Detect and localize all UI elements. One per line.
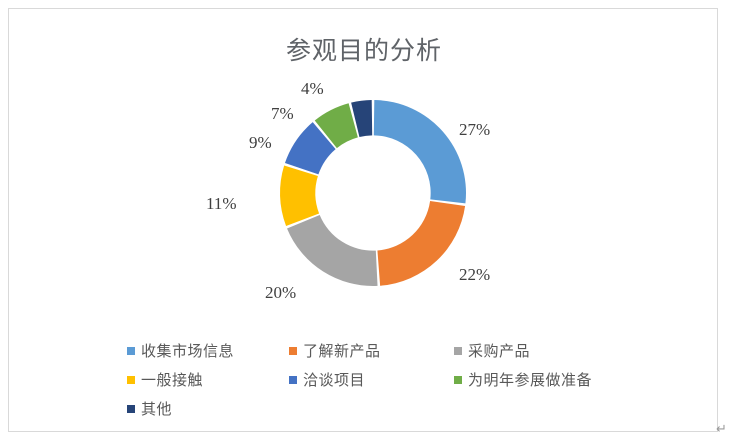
data-label-slice-6: 7%	[271, 104, 294, 124]
legend-row: 其他	[127, 394, 707, 423]
data-label-slice-2: 22%	[459, 265, 490, 285]
legend-item-caigouchanpin[interactable]: 采购产品	[454, 340, 530, 361]
legend-item-label: 洽谈项目	[303, 369, 365, 390]
legend-item-label: 一般接触	[141, 369, 203, 390]
data-label-slice-5: 9%	[249, 133, 272, 153]
legend-row: 收集市场信息 了解新产品 采购产品	[127, 336, 707, 365]
legend-item-label: 为明年参展做准备	[468, 369, 592, 390]
data-label-slice-1: 27%	[459, 120, 490, 140]
doughnut-slice[interactable]	[377, 201, 465, 286]
doughnut-slice[interactable]	[374, 100, 466, 203]
doughnut-svg	[273, 93, 473, 293]
legend-item-qita[interactable]: 其他	[127, 398, 289, 419]
chart-legend[interactable]: 收集市场信息 了解新产品 采购产品 一般接触 洽谈项目 为明年参展做	[127, 336, 707, 423]
legend-swatch-icon	[289, 347, 297, 355]
legend-swatch-icon	[127, 405, 135, 413]
legend-item-qiatanxiangmu[interactable]: 洽谈项目	[289, 369, 454, 390]
legend-swatch-icon	[127, 347, 135, 355]
legend-swatch-icon	[454, 347, 462, 355]
chart-container[interactable]: 参观目的分析 27% 22% 20% 11% 9% 7% 4% 收集市场信息 了…	[8, 8, 718, 432]
data-label-slice-7: 4%	[301, 79, 324, 99]
legend-item-shoujishichangxinxi[interactable]: 收集市场信息	[127, 340, 289, 361]
data-label-slice-3: 20%	[265, 283, 296, 303]
legend-item-label: 其他	[141, 398, 172, 419]
doughnut-chart-plot-area[interactable]	[273, 93, 473, 293]
legend-swatch-icon	[454, 376, 462, 384]
paragraph-mark-icon: ↵	[716, 421, 727, 437]
legend-swatch-icon	[289, 376, 297, 384]
legend-row: 一般接触 洽谈项目 为明年参展做准备	[127, 365, 707, 394]
legend-item-yibanjiechu[interactable]: 一般接触	[127, 369, 289, 390]
doughnut-slice-group	[280, 100, 466, 286]
legend-item-weimingnianzhanzuozhunbei[interactable]: 为明年参展做准备	[454, 369, 592, 390]
legend-item-label: 收集市场信息	[141, 340, 234, 361]
data-label-slice-4: 11%	[206, 194, 237, 214]
legend-item-label: 了解新产品	[303, 340, 381, 361]
doughnut-slice[interactable]	[280, 165, 319, 226]
legend-item-liaojiexinchanpin[interactable]: 了解新产品	[289, 340, 454, 361]
chart-title: 参观目的分析	[9, 31, 719, 67]
legend-swatch-icon	[127, 376, 135, 384]
doughnut-slice[interactable]	[287, 215, 378, 286]
legend-item-label: 采购产品	[468, 340, 530, 361]
